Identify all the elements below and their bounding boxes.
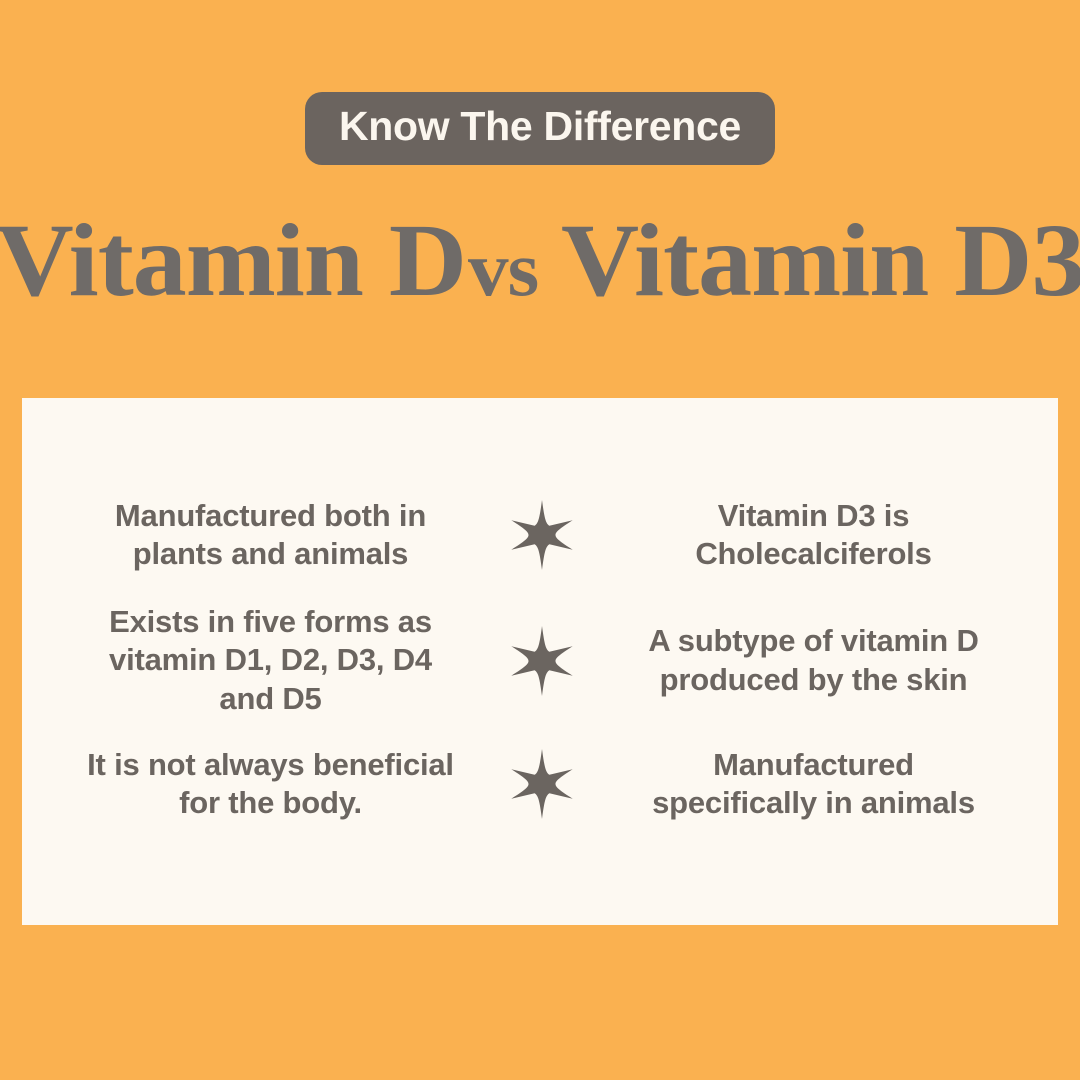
comparison-left-text: Manufactured both in plants and animals bbox=[22, 497, 483, 573]
row-divider bbox=[483, 500, 601, 570]
six-pointed-star-icon bbox=[511, 500, 573, 570]
comparison-left-text: Exists in five forms as vitamin D1, D2, … bbox=[22, 603, 483, 717]
comparison-right-text: Vitamin D3 is Cholecalciferols bbox=[601, 497, 1058, 573]
comparison-card: Manufactured both in plants and animals … bbox=[22, 398, 1058, 925]
comparison-left-text: It is not always beneficial for the body… bbox=[22, 746, 483, 822]
title-right-term: Vitamin D3 bbox=[561, 203, 1080, 318]
comparison-right-text: Manufactured specifically in animals bbox=[601, 746, 1058, 822]
row-divider bbox=[483, 749, 601, 819]
know-the-difference-badge: Know The Difference bbox=[305, 92, 775, 165]
badge-label: Know The Difference bbox=[339, 106, 741, 147]
comparison-row: Manufactured both in plants and animals … bbox=[22, 497, 1058, 603]
page-title: Vitamin DvsVitamin D3 bbox=[0, 206, 1080, 315]
comparison-right-text: A subtype of vitamin D produced by the s… bbox=[601, 622, 1058, 698]
title-separator: vs bbox=[466, 225, 544, 312]
comparison-row: It is not always beneficial for the body… bbox=[22, 746, 1058, 822]
comparison-row: Exists in five forms as vitamin D1, D2, … bbox=[22, 603, 1058, 745]
row-divider bbox=[483, 626, 601, 696]
badge-container: Know The Difference bbox=[0, 92, 1080, 165]
six-pointed-star-icon bbox=[511, 626, 573, 696]
infographic-page: Know The Difference Vitamin DvsVitamin D… bbox=[0, 0, 1080, 1080]
title-left-term: Vitamin D bbox=[0, 203, 466, 318]
six-pointed-star-icon bbox=[511, 749, 573, 819]
